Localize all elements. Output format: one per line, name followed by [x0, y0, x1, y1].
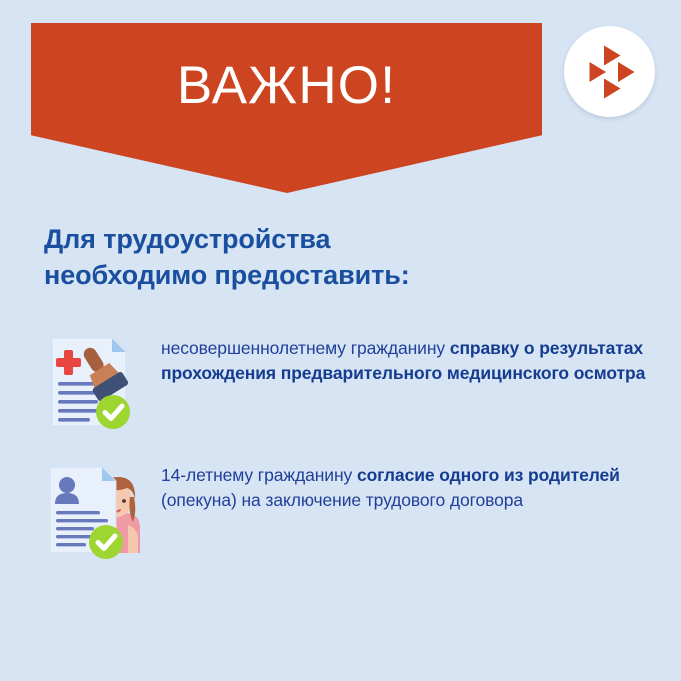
logo-badge	[564, 26, 655, 117]
list-item: несовершеннолетнему гражданину справку о…	[40, 330, 650, 435]
banner-title: ВАЖНО!	[31, 59, 542, 112]
parental-consent-document-icon	[40, 457, 145, 562]
four-arrows-logo-icon	[564, 26, 655, 117]
list-item-text-normal: несовершеннолетнему гражданину	[161, 338, 450, 358]
page-title: Для трудоустройства необходимо предостав…	[44, 222, 410, 293]
list-item-text-part2: (опекуна) на заключение трудового догово…	[161, 490, 523, 510]
list-item: 14-летнему гражданину согласие одного из…	[40, 457, 650, 562]
list-item-text: 14-летнему гражданину согласие одного из…	[161, 463, 650, 514]
list-item-text-bold: согласие одного из родителей	[357, 465, 620, 485]
green-check-badge-icon	[96, 395, 130, 429]
list-item-text-part1: 14-летнему гражданину	[161, 465, 357, 485]
list-item-text: несовершеннолетнему гражданину справку о…	[161, 336, 650, 387]
medical-certificate-stamped-icon	[40, 330, 145, 435]
green-check-badge-icon	[89, 525, 123, 559]
